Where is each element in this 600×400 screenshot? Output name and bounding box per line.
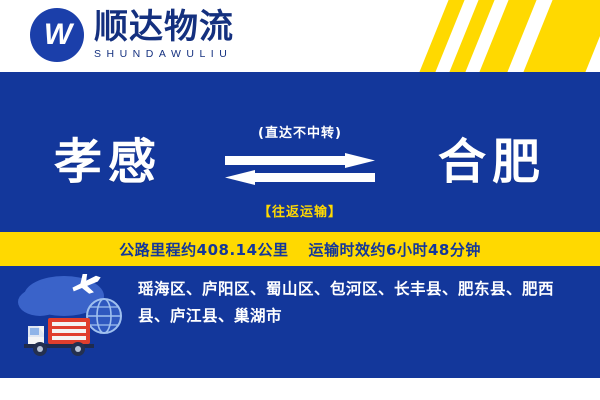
origin-city: 孝感: [18, 134, 198, 190]
logistics-route-poster: W 顺达物流 SHUNDAWULIU 孝感 (直达不中转): [0, 0, 600, 400]
route-middle: (直达不中转) 【往返运输】: [200, 100, 400, 242]
duration-text: 运输时效约6小时48分钟: [309, 241, 481, 259]
coverage-districts: 瑶海区、庐阳区、蜀山区、包河区、长丰县、肥东县、肥西县、庐江县、巢湖市: [138, 272, 600, 330]
delivery-truck-icon: [18, 274, 138, 362]
bottom-white-strip: [0, 378, 600, 400]
route-note-bottom: 【往返运输】: [200, 201, 400, 220]
logo-w-icon: W: [30, 8, 84, 62]
brand-logo: W 顺达物流 SHUNDAWULIU: [30, 8, 234, 62]
logo-letter: W: [44, 18, 70, 52]
brand-name-cn: 顺达物流: [94, 9, 234, 45]
info-bar-content: 公路里程约408.14公里运输时效约6小时48分钟: [119, 239, 481, 260]
brand-name-en: SHUNDAWULIU: [94, 47, 234, 61]
bidirectional-arrows: [225, 153, 375, 187]
brand-text: 顺达物流 SHUNDAWULIU: [94, 9, 234, 61]
coverage-section: 瑶海区、庐阳区、蜀山区、包河区、长丰县、肥东县、肥西县、庐江县、巢湖市: [0, 272, 600, 362]
poster-body: 孝感 (直达不中转) 【往返运输】 合肥 公路里程约408.14公里运输时效约6…: [0, 72, 600, 400]
globe-icon: [87, 299, 121, 333]
route-block: 孝感 (直达不中转) 【往返运输】 合肥: [0, 100, 600, 242]
logistics-illustration: [18, 274, 138, 362]
distance-text: 公路里程约408.14公里: [119, 241, 288, 259]
poster-header: W 顺达物流 SHUNDAWULIU: [0, 0, 600, 72]
arrow-right-icon: [225, 153, 375, 168]
decorative-stripes: [340, 0, 600, 72]
arrow-left-icon: [225, 170, 375, 185]
route-note-top: (直达不中转): [200, 122, 400, 141]
destination-city: 合肥: [402, 134, 582, 190]
info-bar: 公路里程约408.14公里运输时效约6小时48分钟: [0, 232, 600, 266]
